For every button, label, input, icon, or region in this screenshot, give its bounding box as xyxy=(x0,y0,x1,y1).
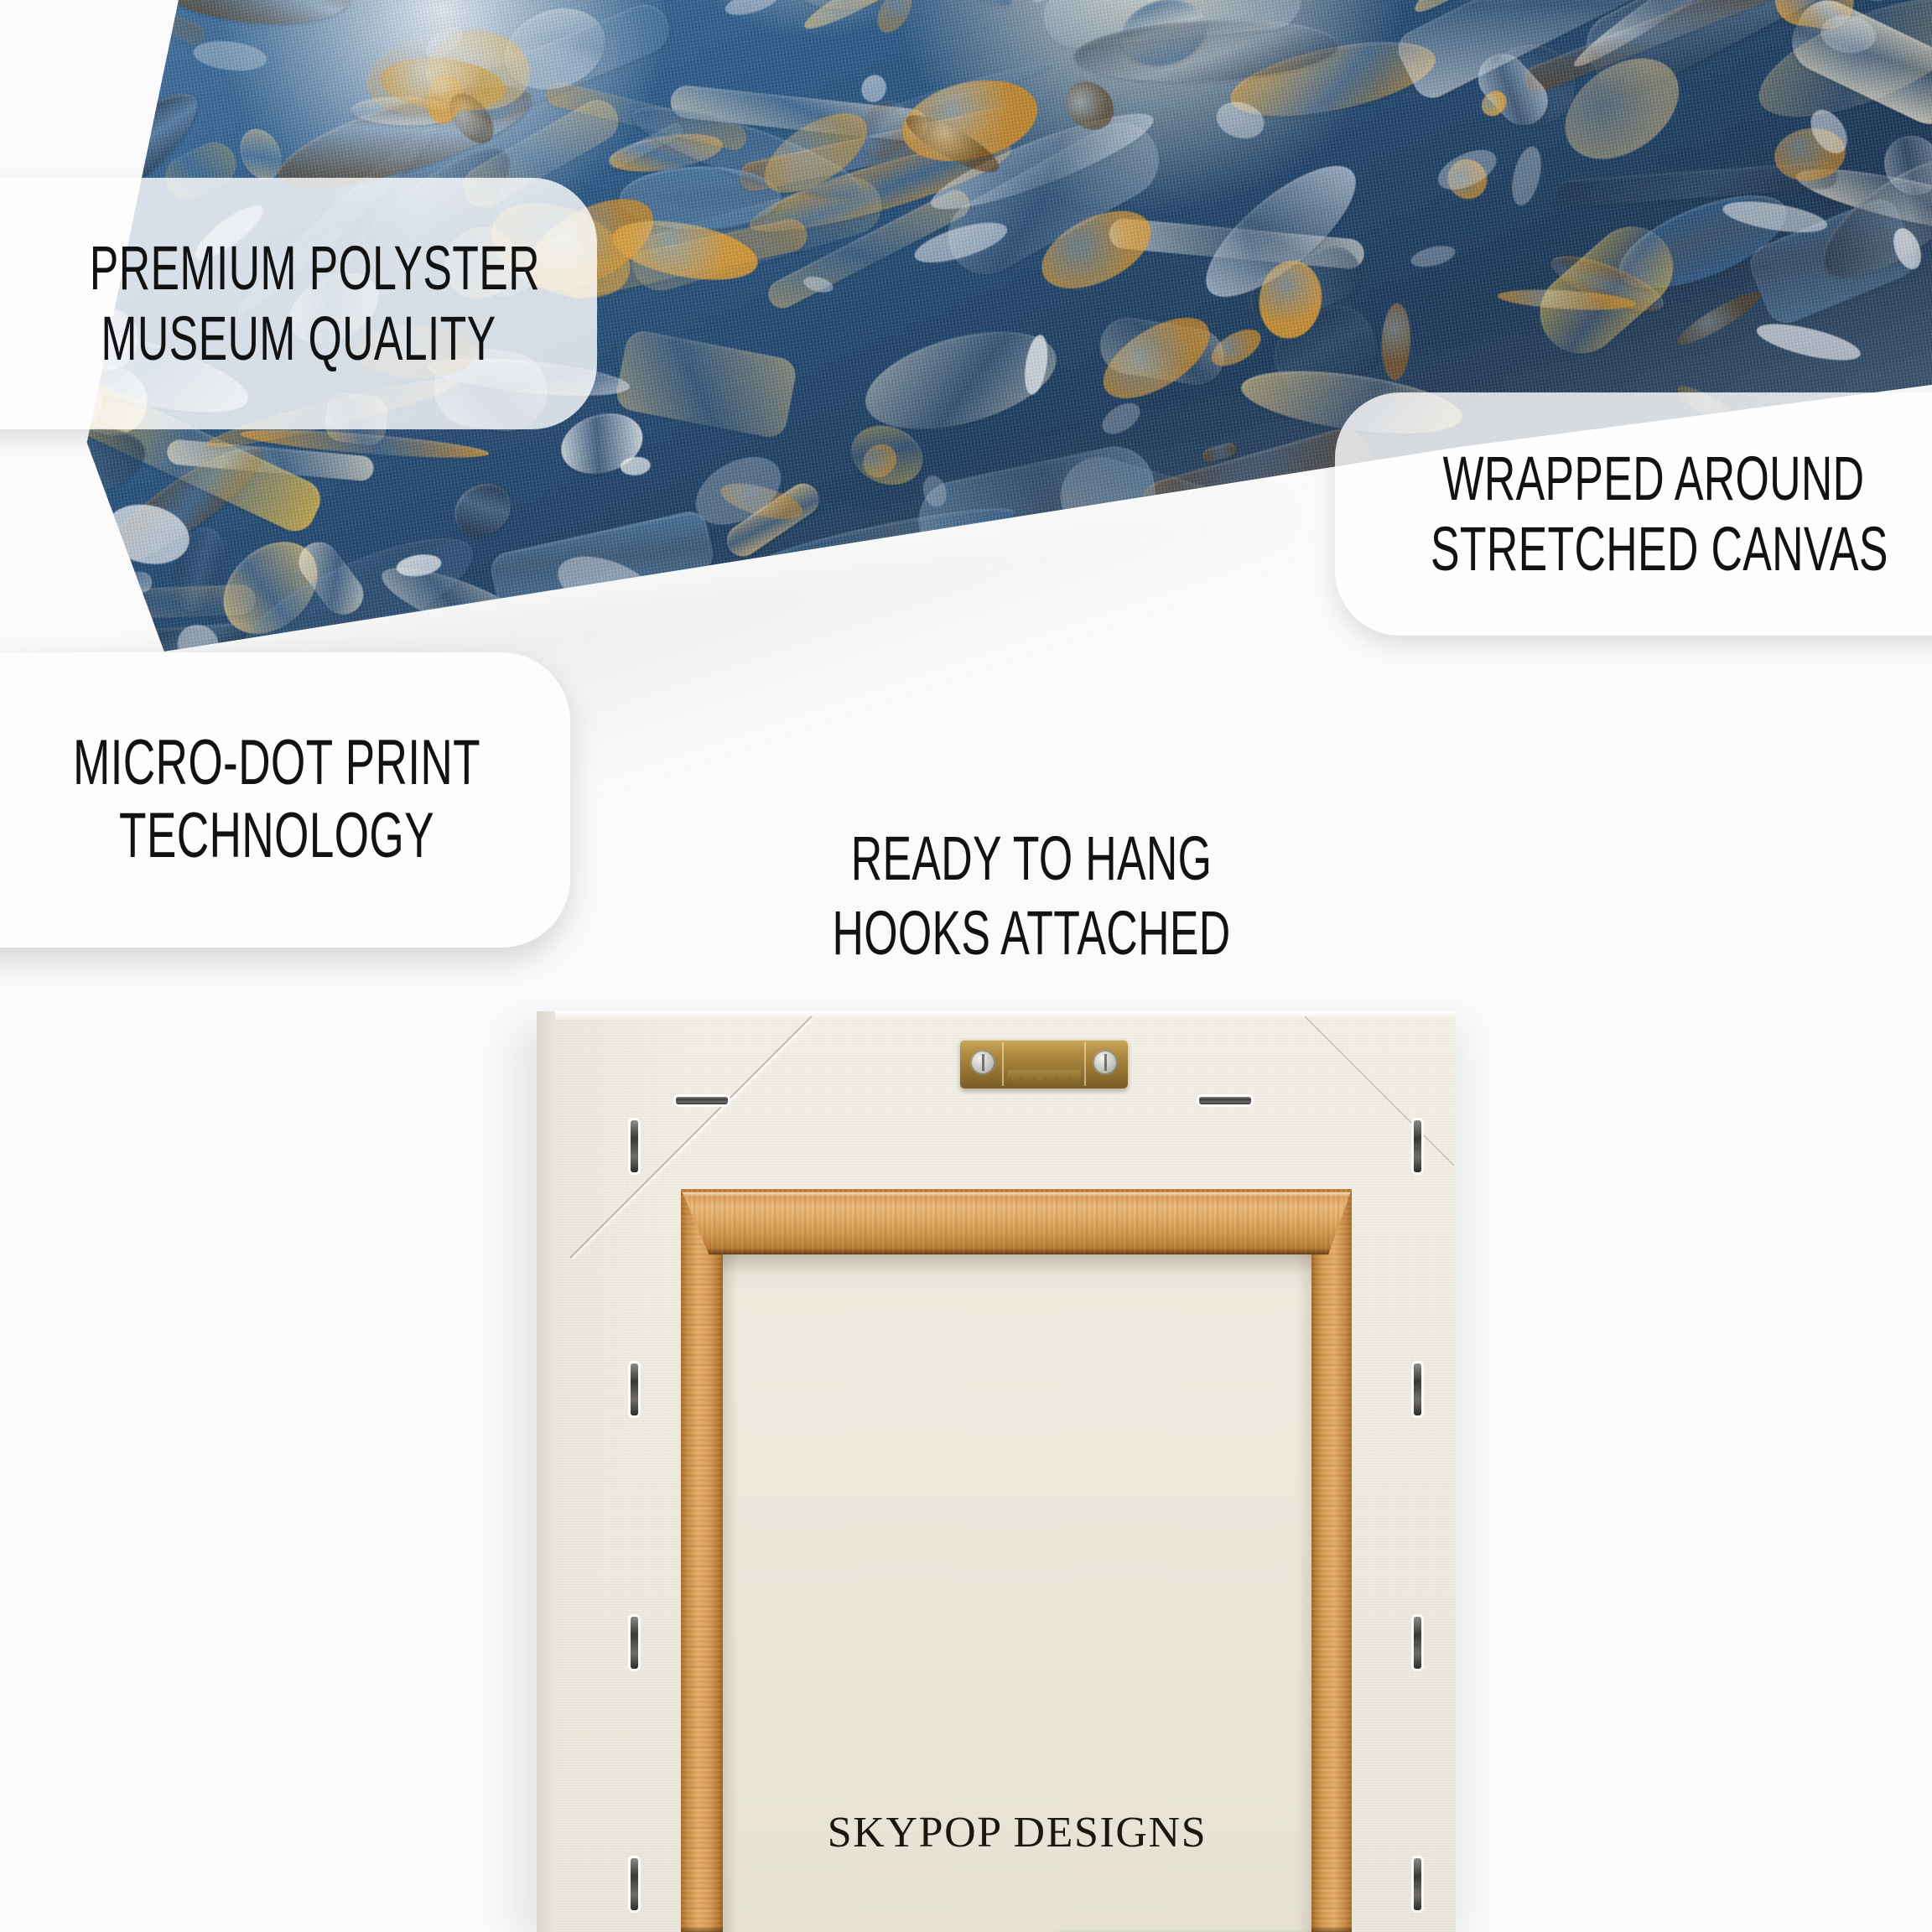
staple xyxy=(1414,1858,1421,1910)
paint-stroke xyxy=(29,572,152,595)
staple xyxy=(1199,1097,1251,1104)
paint-stroke xyxy=(0,0,91,57)
paint-highlight-dab xyxy=(0,20,42,76)
staple xyxy=(1414,1617,1421,1669)
paint-stroke-accent xyxy=(953,538,1075,625)
paint-stroke xyxy=(758,674,990,699)
wood-shadow-edge xyxy=(681,1926,723,1932)
hanger-screw-right xyxy=(1093,1050,1118,1075)
wood-grain-texture xyxy=(681,1189,723,1932)
paint-stroke xyxy=(598,713,857,771)
staple xyxy=(631,1120,638,1172)
stretcher-bar-right xyxy=(1311,1189,1352,1932)
paint-stroke xyxy=(1240,741,1452,771)
paint-highlight-dab xyxy=(1348,646,1405,693)
canvas-back-view: SKYPOP DESIGNS ★★★★★★★★★★★★★★★★★★★★★★★★★… xyxy=(537,1011,1456,1932)
canvas-corner-fold-right xyxy=(1303,1016,1454,1167)
sawtooth-hanger-icon xyxy=(960,1040,1128,1088)
staple xyxy=(1414,1120,1421,1172)
paint-stroke xyxy=(770,568,983,740)
paint-stroke-accent xyxy=(560,768,655,771)
paint-stroke-accent xyxy=(1007,730,1078,771)
paint-stroke xyxy=(1383,665,1627,771)
paint-stroke xyxy=(825,638,957,754)
paint-stroke-accent xyxy=(815,692,863,740)
wood-shadow-edge xyxy=(681,1249,1352,1254)
wood-highlight-edge xyxy=(681,1192,1352,1197)
badge-micro-line2: TECHNOLOGY xyxy=(71,800,482,873)
paint-stroke xyxy=(1763,705,1925,771)
paint-stroke xyxy=(1024,720,1171,771)
paint-stroke xyxy=(1398,750,1664,771)
paint-stroke xyxy=(1287,755,1382,771)
paint-stroke xyxy=(0,451,36,550)
feature-badge-micro-dot-print-technology: MICRO-DOT PRINT TECHNOLOGY xyxy=(0,652,570,948)
wood-grain-texture xyxy=(1311,1189,1352,1932)
paint-stroke xyxy=(829,656,882,694)
paint-stroke xyxy=(1566,732,1838,771)
paint-highlight-dab xyxy=(1192,563,1225,624)
hanger-screw-left xyxy=(970,1050,995,1075)
staple xyxy=(676,1097,728,1104)
stretcher-bar-left xyxy=(681,1189,723,1932)
paint-highlight-dab xyxy=(1716,682,1775,731)
wood-shadow-edge xyxy=(1311,1926,1352,1932)
staple xyxy=(631,1363,638,1415)
badge-premium-line1: PREMIUM POLYSTER xyxy=(90,233,507,304)
paint-stroke xyxy=(930,578,1154,673)
staple xyxy=(1414,1363,1421,1415)
inner-canvas-panel: SKYPOP DESIGNS ★★★★★★★★★★★★★★★★★★★★★★★★★… xyxy=(723,1254,1311,1932)
paint-stroke xyxy=(1597,665,1734,735)
paint-highlight-dab xyxy=(882,675,920,730)
hanger-score-line xyxy=(1002,1042,1004,1086)
stretcher-bar-top xyxy=(681,1189,1352,1254)
paint-highlight-dab xyxy=(1851,758,1872,771)
paint-stroke xyxy=(1552,692,1638,735)
paint-stroke xyxy=(0,0,23,34)
paint-stroke xyxy=(735,651,1005,771)
staple xyxy=(631,1858,638,1910)
badge-wrapped-line1: WRAPPED AROUND xyxy=(1431,444,1877,514)
brand-logo: SKYPOP DESIGNS xyxy=(723,1808,1311,1857)
feature-badge-wrapped-around-stretched-canvas: WRAPPED AROUND STRETCHED CANVAS xyxy=(1335,392,1932,636)
hanger-score-line xyxy=(1084,1042,1086,1086)
panel-top-shadow xyxy=(723,1254,1311,1275)
ready-to-hang-line1: READY TO HANG xyxy=(791,822,1272,896)
ready-to-hang-caption: READY TO HANG HOOKS ATTACHED xyxy=(688,822,1375,971)
badge-micro-line1: MICRO-DOT PRINT xyxy=(71,727,482,800)
stretcher-bar-frame: SKYPOP DESIGNS ★★★★★★★★★★★★★★★★★★★★★★★★★… xyxy=(681,1189,1352,1932)
staple xyxy=(631,1617,638,1669)
paint-stroke xyxy=(1400,709,1568,765)
wood-grain-texture xyxy=(681,1189,1352,1254)
paint-stroke xyxy=(1926,656,1932,771)
paint-stroke xyxy=(1897,734,1932,771)
feature-badge-premium-polyster: PREMIUM POLYSTER MUSEUM QUALITY xyxy=(0,178,597,429)
paint-stroke-accent xyxy=(1675,683,1722,708)
badge-wrapped-line2: STRETCHED CANVAS xyxy=(1431,514,1877,584)
infographic-stage: PREMIUM POLYSTER MUSEUM QUALITY WRAPPED … xyxy=(0,0,1932,1932)
badge-premium-line2: MUSEUM QUALITY xyxy=(90,304,507,374)
ready-to-hang-line2: HOOKS ATTACHED xyxy=(791,896,1272,971)
